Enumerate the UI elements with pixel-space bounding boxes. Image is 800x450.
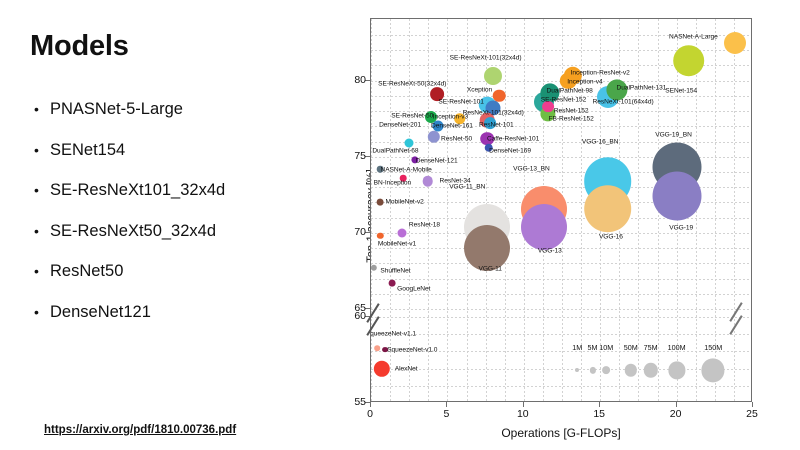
gridline-horizontal xyxy=(371,309,751,310)
list-item: •SENet154 xyxy=(34,141,354,160)
data-point-label: FB-ResNet-152 xyxy=(549,115,594,122)
legend-bubble xyxy=(668,362,685,379)
gridline-vertical xyxy=(734,19,735,401)
gridline-vertical xyxy=(447,19,448,401)
data-point-label: MobileNet-v2 xyxy=(385,199,423,206)
bullet-icon: • xyxy=(34,102,50,116)
gridline-horizontal xyxy=(371,263,751,264)
x-axis-tick xyxy=(599,402,600,407)
legend-bubble xyxy=(575,368,579,372)
data-point-bubble xyxy=(521,204,567,250)
data-point-bubble xyxy=(493,90,506,103)
legend-bubble xyxy=(702,359,725,382)
left-content-panel: Models •PNASNet-5-Large•SENet154•SE-ResN… xyxy=(0,0,360,450)
data-point-label: GoogLeNet xyxy=(397,286,430,293)
legend-bubble xyxy=(589,367,595,373)
bubble-chart: Top-1 accuracy [%] Operations [G-FLOPs] … xyxy=(360,0,800,450)
data-point-label: Xception xyxy=(467,86,492,93)
y-axis-tick-label: 80 xyxy=(354,74,366,86)
data-point-label: ShuffleNet xyxy=(380,267,410,274)
bullet-icon: • xyxy=(34,264,50,278)
x-axis-tick xyxy=(752,402,753,407)
y-axis-tick-label: 55 xyxy=(354,396,366,408)
data-point-label: VGG-16 xyxy=(599,234,623,241)
x-axis-tick xyxy=(676,402,677,407)
x-axis-tick-label: 25 xyxy=(746,408,758,420)
data-point-label: DenseNet-201 xyxy=(379,121,421,128)
data-point-label: ResNeXt-101(64x4d) xyxy=(593,98,654,105)
y-axis-tick-label: 65 xyxy=(354,302,366,314)
gridline-vertical xyxy=(638,19,639,401)
list-item: •SE-ResNeXt50_32x4d xyxy=(34,222,354,241)
legend-bubble xyxy=(643,363,657,377)
gridline-horizontal xyxy=(371,294,751,295)
data-point-label: SE-ResNet-50 xyxy=(391,112,433,119)
data-point-label: SE-ResNeXt-101(32x4d) xyxy=(450,54,522,61)
data-point-label: DualPathNet-68 xyxy=(372,147,418,154)
legend-label: 100M xyxy=(668,343,686,352)
data-point-label: Inception-v4 xyxy=(567,79,602,86)
data-point-label: VGG-13_BN xyxy=(513,165,550,172)
gridline-vertical xyxy=(409,19,410,401)
data-point-label: SqueezeNet-v1.1 xyxy=(370,331,416,338)
data-point-label: ResNet-101 xyxy=(479,121,514,128)
x-axis-tick xyxy=(523,402,524,407)
y-axis-tick-label: 70 xyxy=(354,226,366,238)
legend-label: 5M xyxy=(588,343,598,352)
gridline-vertical xyxy=(428,19,429,401)
data-point-bubble xyxy=(371,265,377,271)
y-axis-tick-label: 75 xyxy=(354,150,366,162)
presentation-slide: Models •PNASNet-5-Large•SENet154•SE-ResN… xyxy=(0,0,800,450)
gridline-vertical xyxy=(467,19,468,401)
data-point-label: VGG-11 xyxy=(478,266,501,273)
data-point-label: VGG-11_BN xyxy=(449,184,485,191)
legend-label: 50M xyxy=(624,343,638,352)
bullet-icon: • xyxy=(34,224,50,238)
data-point-bubble xyxy=(484,67,502,85)
data-point-label: VGG-19_BN xyxy=(655,132,692,139)
list-item-label: PNASNet-5-Large xyxy=(50,100,183,119)
gridline-horizontal xyxy=(371,334,751,335)
x-axis-tick xyxy=(446,402,447,407)
model-bullet-list: •PNASNet-5-Large•SENet154•SE-ResNeXt101_… xyxy=(34,100,354,343)
data-point-bubble xyxy=(584,185,632,233)
bullet-icon: • xyxy=(34,305,50,319)
data-point-bubble xyxy=(724,32,746,54)
gridline-vertical xyxy=(390,19,391,401)
legend-bubble xyxy=(602,366,610,374)
gridline-horizontal xyxy=(371,369,751,370)
data-point-label: SE-ResNeXt-50(32x4d) xyxy=(378,80,446,87)
x-axis-tick-label: 10 xyxy=(517,408,529,420)
data-point-label: ResNet-18 xyxy=(409,222,440,229)
gridline-horizontal xyxy=(371,386,751,387)
legend-bubble xyxy=(625,364,637,376)
data-point-bubble xyxy=(673,45,705,77)
x-axis-tick-label: 20 xyxy=(670,408,682,420)
x-axis-tick-label: 5 xyxy=(443,408,449,420)
data-point-label: MobileNet-v1 xyxy=(378,240,416,247)
data-point-label: NASNet-A-Large xyxy=(669,33,718,40)
data-point-bubble xyxy=(397,228,406,237)
data-point-label: AlexNet xyxy=(395,365,418,372)
list-item: •DenseNet121 xyxy=(34,303,354,322)
x-axis-tick xyxy=(370,402,371,407)
x-axis-title: Operations [G-FLOPs] xyxy=(501,426,620,440)
data-point-label: BN-Inception xyxy=(374,179,412,186)
data-point-label: ResNet-50 xyxy=(441,135,472,142)
list-item-label: SE-ResNeXt50_32x4d xyxy=(50,222,216,241)
data-point-label: VGG-13 xyxy=(538,248,562,255)
data-point-bubble xyxy=(652,172,701,221)
gridline-horizontal xyxy=(371,279,751,280)
data-point-bubble xyxy=(389,280,396,287)
source-url-link[interactable]: https://arxiv.org/pdf/1810.00736.pdf xyxy=(44,424,236,436)
data-point-label: Inception-ResNet-v2 xyxy=(571,70,630,77)
data-point-label: SENet-154 xyxy=(665,88,697,95)
gridline-horizontal xyxy=(371,142,751,143)
data-point-label: DenseNet-169 xyxy=(489,147,531,154)
gridline-vertical xyxy=(505,19,506,401)
list-item: •PNASNet-5-Large xyxy=(34,100,354,119)
data-point-label: DualPathNet-98 xyxy=(547,88,593,95)
data-point-label: ResNeXt-101(32x4d) xyxy=(463,109,524,116)
gridline-horizontal xyxy=(371,317,751,318)
gridline-vertical xyxy=(371,19,372,401)
data-point-bubble xyxy=(377,199,384,206)
data-point-label: Inception-v3 xyxy=(433,114,468,121)
data-point-label: NASNet-A-Mobile xyxy=(380,167,431,174)
data-point-label: DualPathNet-131 xyxy=(617,85,667,92)
data-point-label: VGG-16_BN xyxy=(582,138,619,145)
gridline-horizontal xyxy=(371,126,751,127)
data-point-bubble xyxy=(374,345,380,351)
list-item-label: SE-ResNeXt101_32x4d xyxy=(50,181,225,200)
data-point-bubble xyxy=(422,176,433,187)
x-axis-tick-label: 0 xyxy=(367,408,373,420)
bullet-icon: • xyxy=(34,143,50,157)
data-point-bubble xyxy=(464,225,510,271)
data-point-label: DenseNet-121 xyxy=(416,158,458,165)
x-axis-tick-label: 15 xyxy=(593,408,605,420)
data-point-label: DenseNet-161 xyxy=(431,123,473,130)
data-point-bubble xyxy=(373,360,389,376)
data-point-label: VGG-19 xyxy=(669,225,693,232)
bullet-icon: • xyxy=(34,183,50,197)
data-point-label: SE-ResNet-101 xyxy=(438,98,484,105)
data-point-bubble xyxy=(377,233,383,239)
list-item-label: ResNet50 xyxy=(50,262,123,281)
data-point-label: ResNet-152 xyxy=(554,108,589,115)
list-item: •ResNet50 xyxy=(34,262,354,281)
data-point-label: SqueezeNet-v1.0 xyxy=(387,346,437,353)
page-title: Models xyxy=(30,30,129,63)
data-point-label: SE-ResNet-152 xyxy=(541,97,587,104)
legend-label: 150M xyxy=(704,343,722,352)
list-item: •SE-ResNeXt101_32x4d xyxy=(34,181,354,200)
list-item-label: DenseNet121 xyxy=(50,303,151,322)
plot-area: NASNet-A-LargeSENet-154Inception-ResNet-… xyxy=(370,18,752,402)
legend-label: 1M xyxy=(572,343,582,352)
data-point-label: Caffe-ResNet-101 xyxy=(487,135,539,142)
list-item-label: SENet154 xyxy=(50,141,125,160)
legend-label: 75M xyxy=(644,343,658,352)
legend-label: 10M xyxy=(599,343,613,352)
